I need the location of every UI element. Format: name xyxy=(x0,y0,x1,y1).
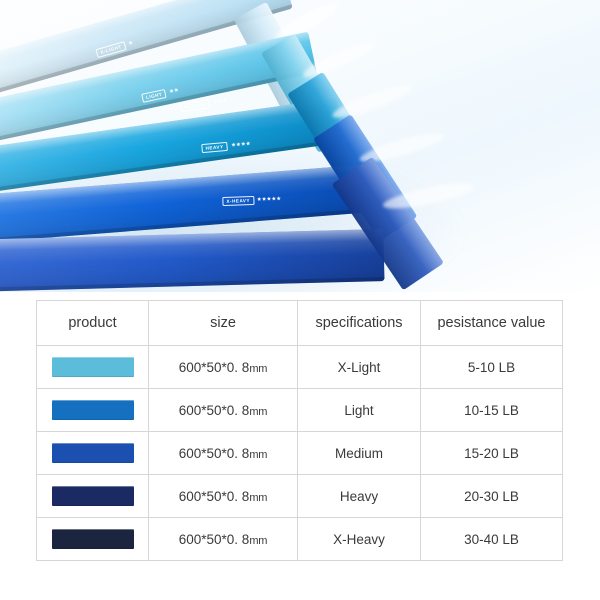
product-swatch-cell xyxy=(37,389,149,432)
specification-cell: X-Heavy xyxy=(298,518,421,561)
resistance-cell: 15-20 LB xyxy=(421,432,563,475)
resistance-cell: 10-15 LB xyxy=(421,389,563,432)
column-header-size: size xyxy=(149,301,298,346)
product-swatch-cell xyxy=(37,518,149,561)
size-value: 600*50*0. 8 xyxy=(179,403,250,418)
table-row: 600*50*0. 8mmX-Light5-10 LB xyxy=(37,346,563,389)
product-color-swatch xyxy=(52,529,134,549)
column-header-resistance: pesistance value xyxy=(421,301,563,346)
resistance-cell: 5-10 LB xyxy=(421,346,563,389)
size-unit: mm xyxy=(249,535,267,547)
specification-table: product size specifications pesistance v… xyxy=(36,300,563,561)
column-header-specifications: specifications xyxy=(298,301,421,346)
specification-cell: Light xyxy=(298,389,421,432)
size-value: 600*50*0. 8 xyxy=(179,532,250,547)
size-unit: mm xyxy=(249,406,267,418)
table-row: 600*50*0. 8mmLight10-15 LB xyxy=(37,389,563,432)
size-cell: 600*50*0. 8mm xyxy=(149,475,298,518)
specification-cell: Medium xyxy=(298,432,421,475)
table-header-row: product size specifications pesistance v… xyxy=(37,301,563,346)
resistance-cell: 30-40 LB xyxy=(421,518,563,561)
product-color-swatch xyxy=(52,443,134,463)
table-row: 600*50*0. 8mmMedium15-20 LB xyxy=(37,432,563,475)
column-header-product: product xyxy=(37,301,149,346)
resistance-cell: 20-30 LB xyxy=(421,475,563,518)
product-swatch-cell xyxy=(37,432,149,475)
table-row: 600*50*0. 8mmX-Heavy30-40 LB xyxy=(37,518,563,561)
size-unit: mm xyxy=(249,492,267,504)
product-color-swatch xyxy=(52,400,134,420)
specification-cell: X-Light xyxy=(298,346,421,389)
table-row: 600*50*0. 8mmHeavy20-30 LB xyxy=(37,475,563,518)
size-value: 600*50*0. 8 xyxy=(179,489,250,504)
product-color-swatch xyxy=(52,486,134,506)
size-unit: mm xyxy=(249,449,267,461)
size-cell: 600*50*0. 8mm xyxy=(149,389,298,432)
size-value: 600*50*0. 8 xyxy=(179,446,250,461)
product-photo: ★ X-LIGHT ★★ LIGHT ★★★ MEDIUM ★★★★ HEAVY… xyxy=(0,0,600,292)
product-swatch-cell xyxy=(37,346,149,389)
specification-cell: Heavy xyxy=(298,475,421,518)
size-cell: 600*50*0. 8mm xyxy=(149,432,298,475)
product-swatch-cell xyxy=(37,475,149,518)
product-color-swatch xyxy=(52,357,134,377)
size-value: 600*50*0. 8 xyxy=(179,360,250,375)
size-cell: 600*50*0. 8mm xyxy=(149,518,298,561)
size-cell: 600*50*0. 8mm xyxy=(149,346,298,389)
size-unit: mm xyxy=(249,363,267,375)
